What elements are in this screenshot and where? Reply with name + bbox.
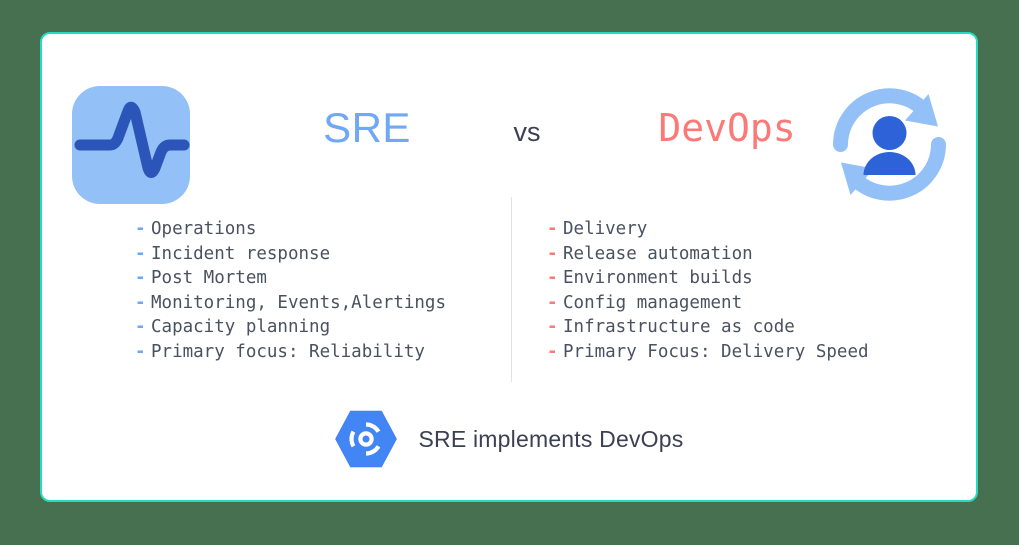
list-item: - Primary focus: Reliability <box>135 340 505 365</box>
footer-row: SRE implements DevOps <box>42 394 976 484</box>
bullet-dash-icon: - <box>547 291 563 316</box>
list-item: - Operations <box>135 217 505 242</box>
list-item-label: Post Mortem <box>151 266 267 291</box>
list-item: - Config management <box>547 291 947 316</box>
list-item: - Incident response <box>135 242 505 267</box>
list-item-label: Primary Focus: Delivery Speed <box>563 340 869 365</box>
bullet-dash-icon: - <box>135 217 151 242</box>
list-item-label: Release automation <box>563 242 753 267</box>
versus-label: vs <box>467 117 587 148</box>
list-item-label: Delivery <box>563 217 647 242</box>
bullet-dash-icon: - <box>547 242 563 267</box>
list-item: - Primary Focus: Delivery Speed <box>547 340 947 365</box>
list-item-label: Incident response <box>151 242 330 267</box>
list-item: - Release automation <box>547 242 947 267</box>
sre-feature-list: - Operations - Incident response - Post … <box>135 217 505 365</box>
footer-caption: SRE implements DevOps <box>419 426 684 453</box>
bullet-dash-icon: - <box>547 340 563 365</box>
bullet-dash-icon: - <box>135 266 151 291</box>
list-item-label: Primary focus: Reliability <box>151 340 425 365</box>
comparison-columns: - Operations - Incident response - Post … <box>42 197 976 387</box>
list-item: - Infrastructure as code <box>547 315 947 340</box>
list-item: - Capacity planning <box>135 315 505 340</box>
comparison-card: SRE vs DevOps - Operations <box>40 32 978 502</box>
header-row: SRE vs DevOps <box>42 34 976 204</box>
list-item-label: Capacity planning <box>151 315 330 340</box>
bullet-dash-icon: - <box>547 266 563 291</box>
bullet-dash-icon: - <box>135 340 151 365</box>
bullet-dash-icon: - <box>135 242 151 267</box>
list-item-label: Config management <box>563 291 742 316</box>
list-item: - Post Mortem <box>135 266 505 291</box>
devops-feature-list: - Delivery - Release automation - Enviro… <box>547 217 947 365</box>
bullet-dash-icon: - <box>547 217 563 242</box>
bullet-dash-icon: - <box>135 291 151 316</box>
sync-user-icon <box>827 82 952 207</box>
list-item: - Monitoring, Events,Alertings <box>135 291 505 316</box>
list-item: - Environment builds <box>547 266 947 291</box>
google-cloud-hexagon-logo <box>335 410 397 468</box>
devops-title: DevOps <box>602 106 852 150</box>
list-item: - Delivery <box>547 217 947 242</box>
bullet-dash-icon: - <box>135 315 151 340</box>
sre-title: SRE <box>287 104 447 152</box>
column-divider <box>511 197 512 382</box>
pulse-monitoring-icon <box>72 86 190 204</box>
list-item-label: Infrastructure as code <box>563 315 795 340</box>
list-item-label: Operations <box>151 217 256 242</box>
bullet-dash-icon: - <box>547 315 563 340</box>
list-item-label: Monitoring, Events,Alertings <box>151 291 446 316</box>
list-item-label: Environment builds <box>563 266 753 291</box>
